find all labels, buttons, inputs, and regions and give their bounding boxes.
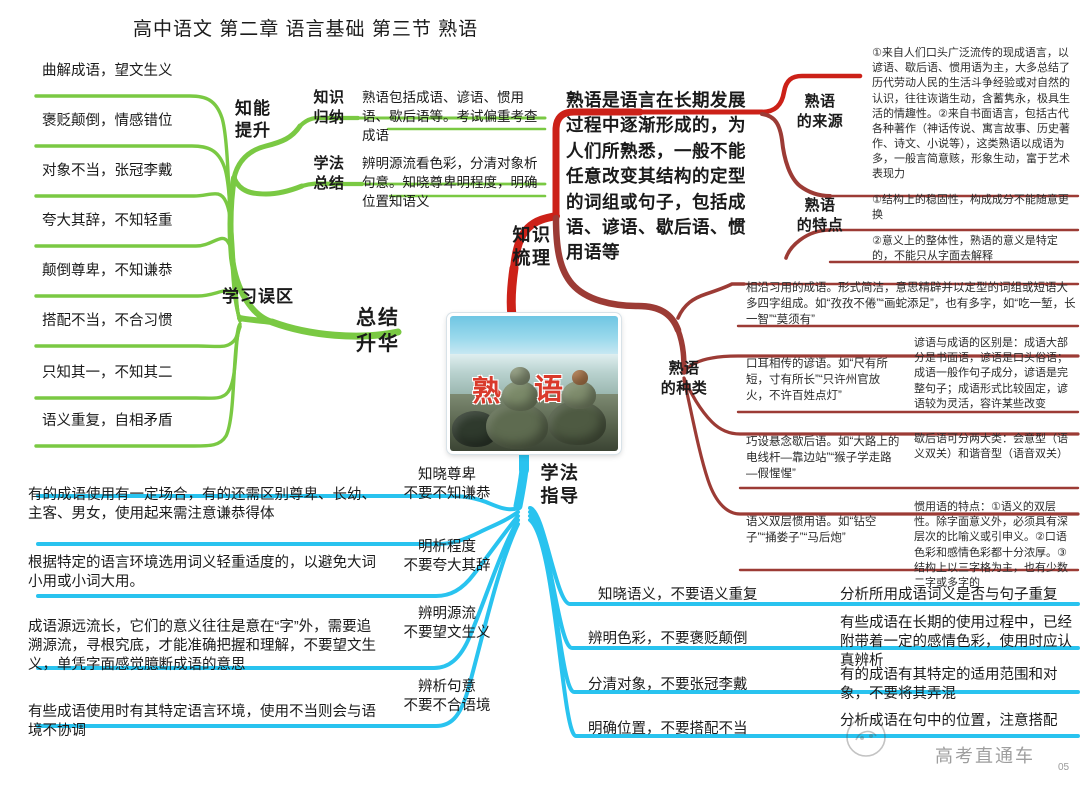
- node-shuyu-tedian[interactable]: 熟语 的特点: [788, 196, 852, 235]
- definition-shuyu: 熟语是语言在长期发展过程中逐渐形成的，为人们所熟悉，一般不能任意改变其结构的定型…: [566, 88, 762, 266]
- leaf-wuqu-7: 只知其一，不知其二: [42, 364, 173, 383]
- blue-left-detail-1: 有的成语使用有一定场合，有的还需区别尊卑、长幼、主客、男女，使用起来需注意谦恭得…: [28, 486, 378, 524]
- hub-label-zhishi-shuli: 知识 梳理: [506, 224, 558, 271]
- node-xuexi-wuqu[interactable]: 学习误区: [222, 286, 294, 308]
- blue-left-title-2[interactable]: 明析程度 不要夸大其辞: [370, 538, 524, 576]
- stone-4: [510, 367, 530, 385]
- blue-left-title-3[interactable]: 辨明源流 不要望文生义: [370, 605, 524, 643]
- leaf-wuqu-2: 褒贬颠倒，情感错位: [42, 112, 173, 131]
- stone-3: [502, 381, 538, 411]
- blue-left-title-1[interactable]: 知晓尊卑 不要不知谦恭: [370, 466, 524, 504]
- node-zhineng-tisheng[interactable]: 知能 提升: [226, 98, 280, 142]
- stone-7: [572, 370, 588, 385]
- detail-zhonglei-3: 巧设悬念歇后语。如“大路上的电线杆—靠边站”“猴子学走路—假惺惺”: [746, 434, 902, 482]
- blue-right-title-3[interactable]: 分清对象，不要张冠李戴: [588, 676, 748, 695]
- leaf-wuqu-5: 颠倒尊卑，不知谦恭: [42, 262, 173, 281]
- leaf-wuqu-1: 曲解成语，望文生义: [42, 62, 173, 81]
- leaf-wuqu-4: 夸大其辞，不知轻重: [42, 212, 173, 231]
- page-number: 05: [1058, 762, 1069, 773]
- detail-tedian-1: ①结构上的稳固性，构成成分不能随意更换: [872, 193, 1076, 223]
- leaf-wuqu-6: 搭配不当，不合习惯: [42, 312, 173, 331]
- stone-6: [562, 381, 596, 409]
- image-word-1: 熟: [472, 368, 501, 410]
- detail-zhishi-guina: 熟语包括成语、谚语、惯用语、歇后语等。考试偏重考查成语: [362, 88, 550, 145]
- blue-right-title-2[interactable]: 辨明色彩，不要褒贬颠倒: [588, 630, 748, 649]
- leaf-wuqu-3: 对象不当，张冠李戴: [42, 162, 173, 181]
- hub-label-zongjie: 总结 升华: [338, 305, 418, 357]
- detail-tedian-2: ②意义上的整体性，熟语的意义是特定的，不能只从字面去解释: [872, 234, 1076, 264]
- page-title: 高中语文 第二章 语言基础 第三节 熟语: [133, 18, 478, 43]
- detail-xuefa-zongjie: 辨明源流看色彩，分清对象析句意。知晓尊卑明程度，明确位置知语义: [362, 154, 550, 211]
- blue-left-title-4[interactable]: 辨析句意 不要不合语境: [370, 678, 524, 716]
- watermark-logo-icon: [845, 716, 887, 758]
- node-xuefa-zongjie[interactable]: 学法 总结: [304, 154, 354, 193]
- detail-laiyuan-1: ①来自人们口头广泛流传的现成语言，以谚语、歇后语、惯用语为主，大多总结了历代劳动…: [872, 46, 1076, 183]
- detail-zhonglei-4: 语义双层惯用语。如“钻空子”“捅娄子”“马后炮”: [746, 514, 902, 546]
- image-word-2: 语: [534, 366, 563, 408]
- center-image-shuyu: 熟 语: [447, 313, 621, 454]
- note-zhonglei-2: 谚语与成语的区别是：成语大部分是书面语，谚语是口头俗语；成语一般作句子成分，谚语…: [914, 336, 1074, 412]
- mindmap-canvas: 高中语文 第二章 语言基础 第三节 熟语 熟 语 总结 升华 知能 提升 知识 …: [0, 0, 1080, 794]
- blue-left-detail-4: 有些成语使用时有其特定语言环境，使用不当则会与语境不协调: [28, 703, 376, 741]
- note-zhonglei-4: 惯用语的特点：①语义的双层性。除字面意义外，必须具有深层次的比喻义或引申义。②口…: [914, 500, 1076, 591]
- detail-zhonglei-1: 相沿习用的成语。形式简洁，意思精辟并以定型的词组或短语大多四字组成。如“孜孜不倦…: [746, 280, 1076, 328]
- blue-right-detail-1: 分析所用成语词义是否与句子重复: [840, 586, 1076, 605]
- image-sky: [450, 316, 618, 357]
- hub-label-xuefa-zhidao: 学法 指导: [534, 462, 586, 509]
- leaf-wuqu-8: 语义重复，自相矛盾: [42, 412, 173, 431]
- blue-right-title-1[interactable]: 知晓语义，不要语义重复: [598, 586, 758, 605]
- node-zhishi-guina[interactable]: 知识 归纳: [304, 88, 354, 127]
- blue-right-detail-2: 有些成语在长期的使用过程中，已经附带着一定的感情色彩，使用时应认真辨析: [840, 614, 1076, 671]
- blue-left-detail-3: 成语源远流长，它们的意义往往是意在“字”外，需要追溯源流，寻根究底，才能准确把握…: [28, 618, 376, 675]
- note-zhonglei-3: 歇后语可分两大类：会意型（语义双关）和谐音型（语音双关）: [914, 432, 1074, 462]
- node-shuyu-zhonglei[interactable]: 熟语 的种类: [652, 359, 716, 398]
- blue-right-title-4[interactable]: 明确位置，不要搭配不当: [588, 720, 748, 739]
- detail-zhonglei-2: 口耳相传的谚语。如“尺有所短，寸有所长”“只许州官放火，不许百姓点灯”: [746, 356, 900, 404]
- blue-right-detail-3: 有的成语有其特定的适用范围和对象，不要将其弄混: [840, 666, 1076, 704]
- watermark-text: 高考直通车: [935, 742, 1035, 768]
- blue-left-detail-2: 根据特定的语言环境选用词义轻重适度的，以避免大词小用或小词大用。: [28, 554, 376, 592]
- node-shuyu-laiyuan[interactable]: 熟语 的来源: [788, 92, 852, 131]
